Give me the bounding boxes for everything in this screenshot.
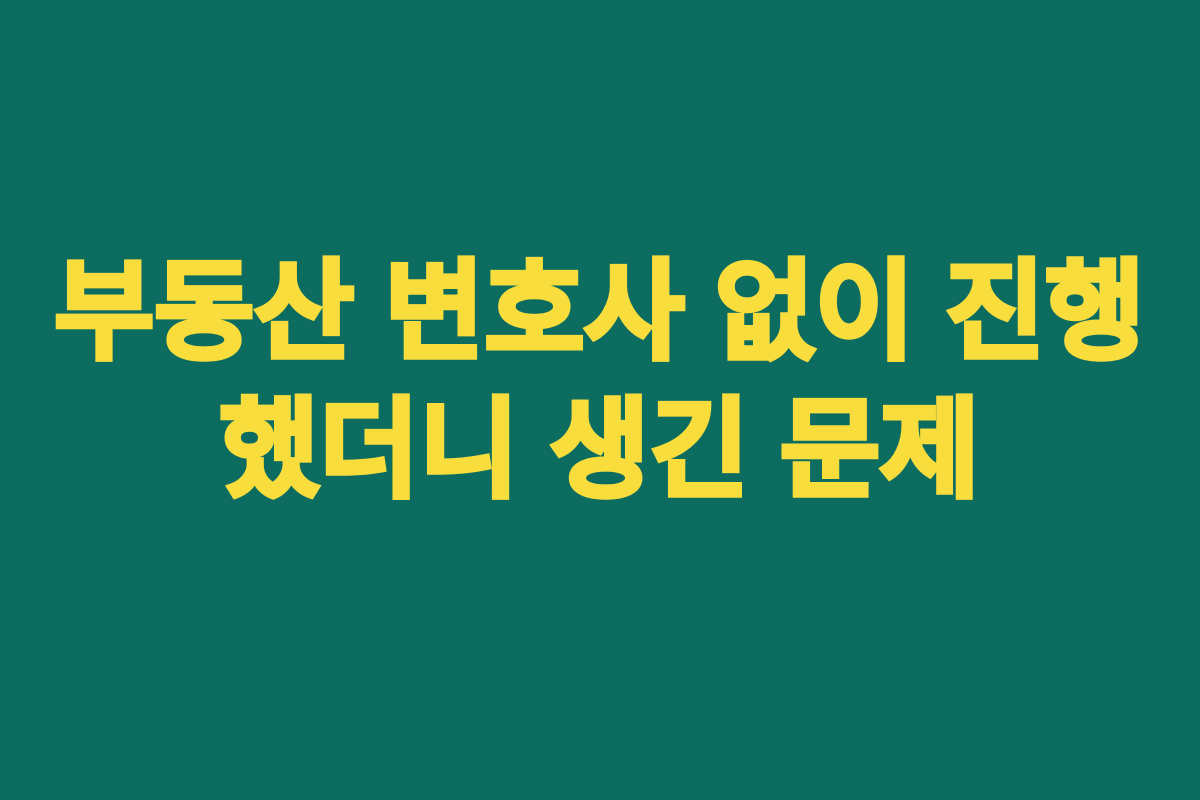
headline-line-2: 했더니 생긴 문제 [220, 381, 980, 519]
headline-block: 부동산 변호사 없이 진행 했더니 생긴 문제 [0, 0, 1200, 800]
headline-line-1: 부동산 변호사 없이 진행 [55, 243, 1146, 381]
banner-canvas: 부동산 변호사 없이 진행 했더니 생긴 문제 [0, 0, 1200, 800]
